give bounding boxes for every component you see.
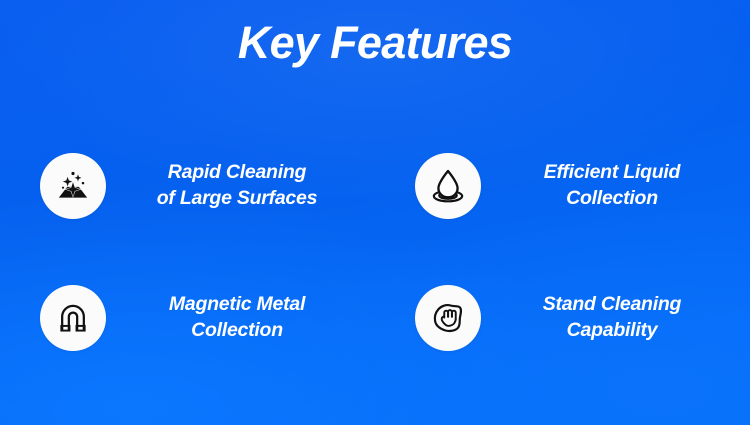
feature-label: Rapid Cleaning of Large Surfaces (122, 160, 352, 211)
feature-item-efficient-liquid-collection: Efficient Liquid Collection (375, 120, 750, 252)
feature-label-line2: of Large Surfaces (157, 187, 317, 209)
feature-label-line2: Capability (567, 319, 658, 341)
feature-label: Stand Cleaning Capability (497, 292, 727, 343)
horseshoe-magnet-icon (53, 298, 93, 338)
feature-item-magnetic-metal-collection: Magnetic Metal Collection (0, 252, 375, 384)
sparkle-surface-icon (53, 166, 93, 206)
icon-badge (40, 153, 106, 219)
feature-item-stand-cleaning-capability: Stand Cleaning Capability (375, 252, 750, 384)
features-grid: Rapid Cleaning of Large Surfaces Efficie… (0, 120, 750, 384)
feature-label-line2: Collection (191, 319, 283, 341)
hand-wiping-cloth-icon (428, 298, 468, 338)
feature-item-rapid-cleaning: Rapid Cleaning of Large Surfaces (0, 120, 375, 252)
key-features-banner: Key Features (0, 0, 750, 425)
water-droplet-icon (428, 166, 468, 206)
feature-label-line1: Rapid Cleaning (168, 161, 306, 183)
feature-label: Magnetic Metal Collection (122, 292, 352, 343)
feature-label-line1: Magnetic Metal (169, 293, 305, 315)
feature-label: Efficient Liquid Collection (497, 160, 727, 211)
page-title: Key Features (0, 18, 750, 68)
feature-label-line2: Collection (566, 187, 658, 209)
icon-badge (415, 285, 481, 351)
icon-badge (415, 153, 481, 219)
icon-badge (40, 285, 106, 351)
feature-label-line1: Efficient Liquid (544, 161, 680, 183)
feature-label-line1: Stand Cleaning (543, 293, 681, 315)
